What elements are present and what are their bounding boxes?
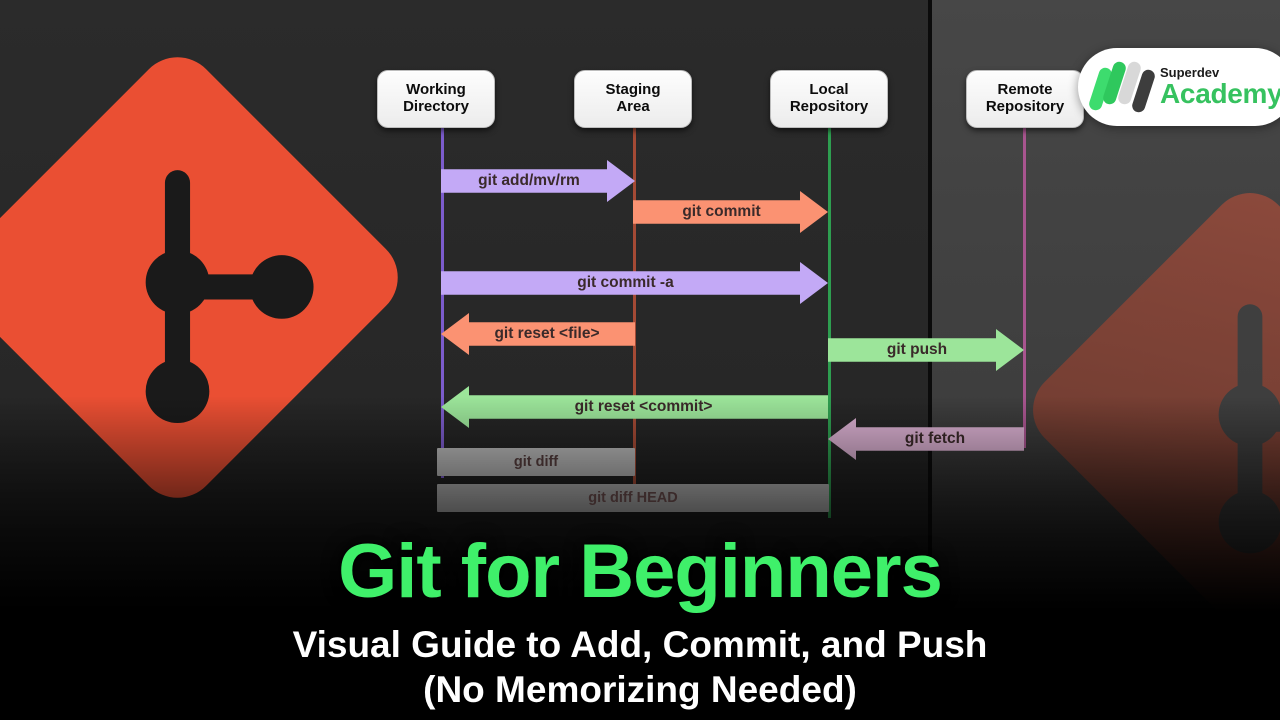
page-subtitle: Visual Guide to Add, Commit, and Push (N… xyxy=(0,622,1280,712)
arrow-label: git reset <commit> xyxy=(575,398,713,416)
node-local-repository[interactable]: Local Repository xyxy=(770,70,888,128)
arrow-label: git diff xyxy=(514,454,558,470)
lifeline-remote-repository xyxy=(1023,118,1026,448)
superdev-logo-icon xyxy=(1092,59,1154,115)
arrow-git-fetch[interactable]: git fetch xyxy=(828,418,1024,460)
arrow-git-reset-file[interactable]: git reset <file> xyxy=(441,313,635,355)
node-remote-repository[interactable]: Remote Repository xyxy=(966,70,1084,128)
node-label-line1: Working xyxy=(403,82,469,99)
arrow-label: git fetch xyxy=(905,430,965,448)
node-label-line2: Repository xyxy=(790,99,868,116)
node-label-line1: Remote xyxy=(986,82,1064,99)
node-label-line2: Directory xyxy=(403,99,469,116)
node-label-line2: Area xyxy=(606,99,661,116)
bar-git-diff[interactable]: git diff xyxy=(437,448,635,476)
arrow-label: git push xyxy=(887,341,947,359)
title-block: Git for Beginners Visual Guide to Add, C… xyxy=(0,534,1280,712)
subtitle-line-1: Visual Guide to Add, Commit, and Push xyxy=(293,624,988,665)
node-label-line1: Local xyxy=(790,82,868,99)
subtitle-line-2: (No Memorizing Needed) xyxy=(0,667,1280,712)
slide-canvas: Working Directory Staging Area Local Rep… xyxy=(0,0,1280,720)
arrow-git-add[interactable]: git add/mv/rm xyxy=(441,160,635,202)
node-staging-area[interactable]: Staging Area xyxy=(574,70,692,128)
lifeline-staging-area xyxy=(633,118,636,496)
arrow-git-push[interactable]: git push xyxy=(828,329,1024,371)
node-working-directory[interactable]: Working Directory xyxy=(377,70,495,128)
arrow-git-commit[interactable]: git commit xyxy=(633,191,828,233)
brand-name-bottom: Academy xyxy=(1160,79,1280,108)
bar-git-diff-head[interactable]: git diff HEAD xyxy=(437,484,829,512)
arrow-label: git commit xyxy=(682,203,760,221)
arrow-label: git add/mv/rm xyxy=(478,172,580,190)
page-title: Git for Beginners xyxy=(0,534,1280,610)
superdev-academy-badge[interactable]: Superdev Academy xyxy=(1078,48,1280,126)
arrow-label: git commit -a xyxy=(577,274,673,292)
node-label-line2: Repository xyxy=(986,99,1064,116)
arrow-label: git reset <file> xyxy=(494,325,599,343)
arrow-label: git diff HEAD xyxy=(588,490,677,506)
node-label-line1: Staging xyxy=(606,82,661,99)
lifeline-local-repository xyxy=(828,118,831,518)
brand-name-top: Superdev xyxy=(1160,66,1280,79)
